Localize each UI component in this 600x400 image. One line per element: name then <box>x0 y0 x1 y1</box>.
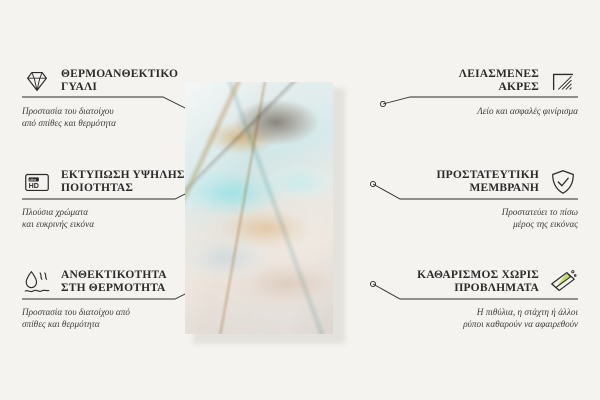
feature-high-quality-print: ultra HD ΕΚΤΥΠΩΣΗ ΥΨΗΛΗΣ ΠΟΙΟΤΗΤΑΣ Πλούσ… <box>22 165 227 231</box>
feature-easy-cleaning: ΚΑΘΑΡΙΣΜΟΣ ΧΩΡΙΣ ΠΡΟΒΛΗΜΑΤΑ Η πιθύλια, η… <box>373 265 578 331</box>
feature-title: ΚΑΘΑΡΙΣΜΟΣ ΧΩΡΙΣ ΠΡΟΒΛΗΜΑΤΑ <box>417 269 539 295</box>
feature-title: ΕΚΤΥΠΩΣΗ ΥΨΗΛΗΣ ΠΟΙΟΤΗΤΑΣ <box>61 169 185 195</box>
feature-protective-membrane: ΠΡΟΣΤΑΤΕΥΤΙΚΗ ΜΕΜΒΡΑΝΗ Προστατεύει το πί… <box>373 165 578 231</box>
sponge-icon <box>548 267 578 297</box>
feature-description: Πλούσια χρώματα και ευκρινής εικόνα <box>22 206 212 231</box>
diamond-icon <box>22 66 52 96</box>
feature-title: ΑΝΘΕΚΤΙΚΟΤΗΤΑ ΣΤΗ ΘΕΡΜΟΤΗΤΑ <box>61 269 167 295</box>
feature-heat-resistant-glass: ΘΕΡΜΟΑΝΘΕΚΤΙΚΟ ΓΥΑΛΙ Προστασία του διατο… <box>22 64 227 130</box>
water-heat-icon <box>22 267 52 297</box>
feature-description: Προστασία του διατοίχου από σπίθες και θ… <box>22 306 212 331</box>
shield-icon <box>548 167 578 197</box>
feature-heat-durability: ΑΝΘΕΚΤΙΚΟΤΗΤΑ ΣΤΗ ΘΕΡΜΟΤΗΤΑ Προστασία το… <box>22 265 227 331</box>
feature-title: ΘΕΡΜΟΑΝΘΕΚΤΙΚΟ ΓΥΑΛΙ <box>61 68 178 94</box>
infographic-root: ΘΕΡΜΟΑΝΘΕΚΤΙΚΟ ΓΥΑΛΙ Προστασία του διατο… <box>0 0 600 400</box>
edges-icon <box>548 66 578 96</box>
feature-title: ΛΕΙΑΣΜΕΝΕΣ ΑΚΡΕΣ <box>459 68 539 94</box>
ultra-hd-icon: ultra HD <box>22 167 52 197</box>
feature-description: Προστατεύει το πίσω μέρος της εικόνας <box>373 206 578 231</box>
feature-polished-edges: ΛΕΙΑΣΜΕΝΕΣ ΑΚΡΕΣ Λείο και ασφαλές φινίρι… <box>373 64 578 117</box>
svg-text:HD: HD <box>29 182 39 190</box>
feature-description: Λείο και ασφαλές φινίρισμα <box>373 105 578 117</box>
feature-description: Προστασία του διατοίχου από σπίθες και θ… <box>22 105 212 130</box>
feature-title: ΠΡΟΣΤΑΤΕΥΤΙΚΗ ΜΕΜΒΡΑΝΗ <box>437 169 539 195</box>
feature-description: Η πιθύλια, η στάχτη ή άλλοι ρύποι καθαρο… <box>373 306 578 331</box>
